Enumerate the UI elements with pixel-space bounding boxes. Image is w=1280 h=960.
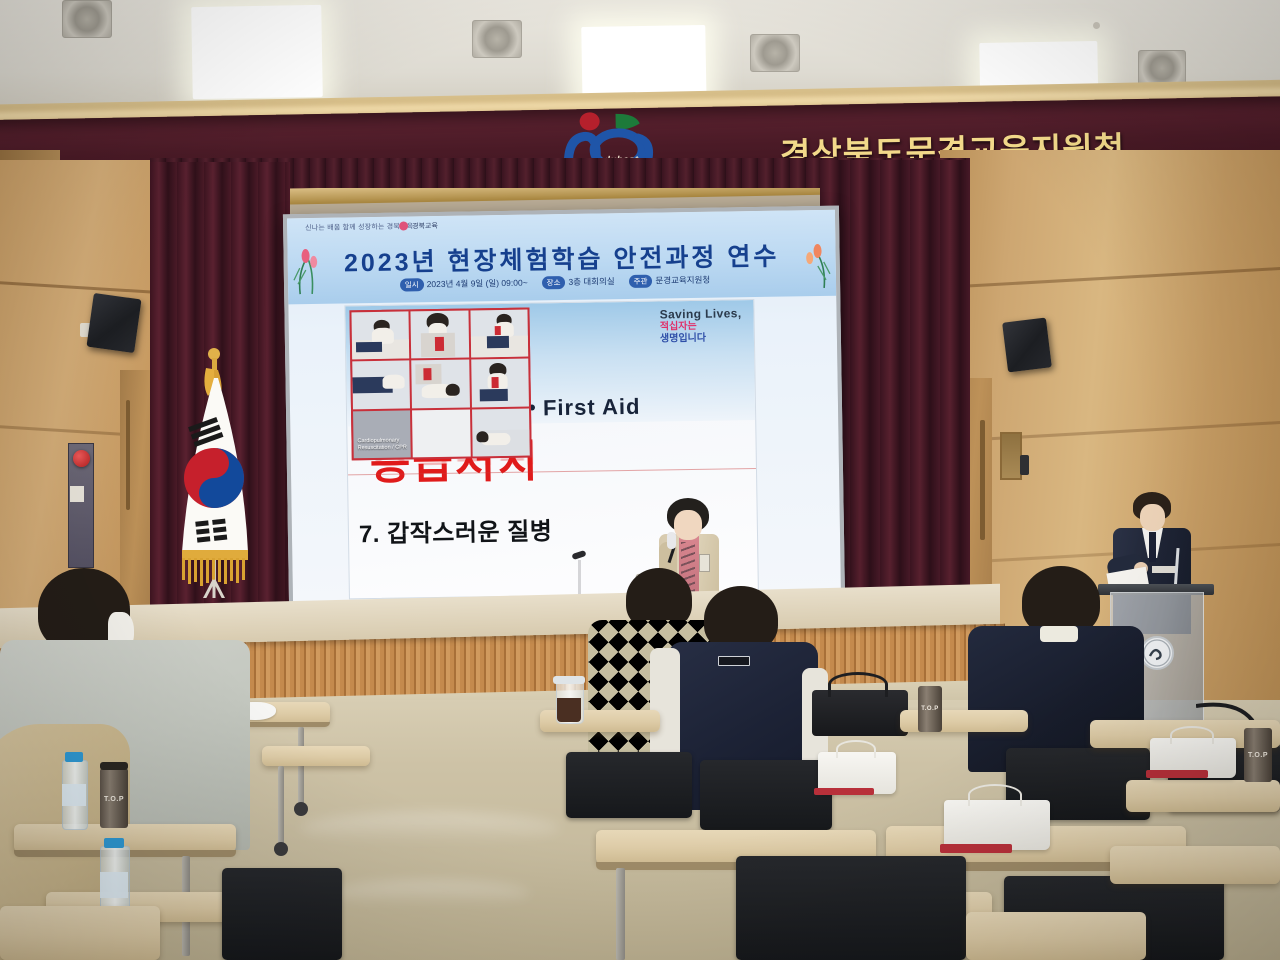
wall-speaker-right (1002, 318, 1052, 373)
ceiling-light (191, 5, 323, 99)
red-folder (814, 788, 874, 795)
door-handle[interactable] (126, 400, 130, 510)
photo-cell (471, 359, 529, 407)
air-vent (62, 0, 112, 38)
top-can-label: T.O.P (1244, 752, 1272, 759)
plastic-bag (944, 800, 1050, 850)
meta-tag-host: 주관 (629, 275, 653, 288)
table (1126, 780, 1280, 812)
floral-decoration-right (789, 234, 834, 291)
saving-lives-english: Saving Lives, (660, 306, 742, 321)
shoulder-label (718, 656, 750, 666)
photo-cell (412, 409, 470, 457)
saving-lives-korean-2: 생명입니다 (660, 332, 742, 345)
cpr-photo-collage: Cardiopulmonary Resuscitation / CPR (349, 308, 531, 461)
table-leg (298, 727, 304, 805)
bottle-label (100, 872, 128, 898)
slide-slogan-left: 신나는 배움 함께 성장하는 경북교육 (305, 221, 413, 233)
shirt-collar (1040, 626, 1078, 642)
lectern-emblem (1140, 636, 1174, 670)
table (262, 746, 370, 766)
chair-back (736, 856, 966, 960)
top-coffee-can: T.O.P (918, 686, 942, 732)
air-vent (750, 34, 800, 72)
floral-decoration-left (289, 240, 336, 297)
necktie (1149, 532, 1156, 562)
bag-handle (828, 672, 888, 697)
top-coffee-can: T.O.P (100, 768, 128, 828)
bottle-cap (104, 838, 124, 848)
red-folder (1146, 770, 1208, 778)
table (1110, 846, 1280, 884)
bottle-cap (65, 752, 83, 762)
fire-alarm-bell-icon (73, 450, 90, 467)
table (0, 906, 160, 960)
bottle-label (62, 784, 86, 806)
table (966, 912, 1146, 960)
meta-value-host: 문경교육지원청 (655, 275, 710, 286)
slogan-bullet-icon (399, 221, 408, 230)
projection-screen: 신나는 배움 함께 성장하는 경북교육 경북교육 2023년 현장체험학습 안전… (283, 206, 845, 611)
name-badge (1152, 566, 1176, 573)
meta-tag-datetime: 일시 (400, 278, 424, 291)
bag-handle (836, 740, 876, 758)
wall-speaker-left (86, 293, 141, 353)
sprinkler-head (1093, 22, 1100, 29)
red-folder (940, 844, 1012, 853)
saving-lives-block: Saving Lives, 적십자는 생명입니다 (660, 306, 742, 344)
top-coffee-can: T.O.P (1244, 728, 1272, 782)
table-leg (278, 766, 284, 846)
air-vent (472, 20, 522, 58)
photo-cell (472, 408, 530, 456)
floor-reflection (330, 880, 530, 906)
photo-cell (351, 311, 409, 359)
microphone-icon (667, 532, 676, 549)
fire-alarm-label (70, 486, 84, 502)
first-aid-heading: First Aid (543, 394, 641, 422)
chair-back (566, 752, 692, 818)
door-left[interactable] (120, 370, 152, 620)
photo-cell (352, 361, 410, 409)
slide-topic-heading: 7. 갑작스러운 질병 (359, 511, 553, 549)
air-vent (1138, 50, 1186, 86)
card-reader-panel[interactable] (1020, 455, 1029, 475)
chair-back (222, 868, 342, 960)
lecture-hall-photo: edubest 경상북도문경교육지원청 신나는 배움 함께 성장하는 경북교육 … (0, 0, 1280, 960)
door-viewport-window (1000, 432, 1022, 480)
floor-reflection (300, 812, 560, 844)
table-caster (294, 802, 308, 816)
can-lid (100, 762, 128, 770)
iced-coffee-liquid (557, 698, 581, 722)
korean-national-flag (168, 338, 264, 598)
bag-handle (968, 784, 1022, 806)
meta-tag-location: 장소 (542, 276, 566, 289)
name-badge (699, 554, 710, 572)
photo-cell (411, 310, 469, 358)
door-handle[interactable] (980, 420, 985, 540)
photo-cell-caption: Cardiopulmonary Resuscitation / CPR (353, 410, 411, 458)
top-can-label: T.O.P (100, 796, 128, 803)
table-leg (616, 868, 625, 960)
meta-value-datetime: 2023년 4월 9일 (일) 09:00~ (427, 278, 528, 290)
table-caster (274, 842, 288, 856)
meta-value-location: 3층 대회의실 (568, 276, 614, 287)
cpr-caption: Cardiopulmonary Resuscitation / CPR (357, 438, 411, 453)
face (1140, 504, 1165, 531)
cup-lid (553, 676, 585, 684)
chair-back (700, 760, 832, 830)
photo-cell (470, 310, 528, 358)
top-can-label: T.O.P (918, 706, 942, 712)
bag-handle (1170, 726, 1214, 744)
photo-cell (412, 360, 470, 408)
slide-slogan-right: 경북교육 (412, 221, 438, 231)
